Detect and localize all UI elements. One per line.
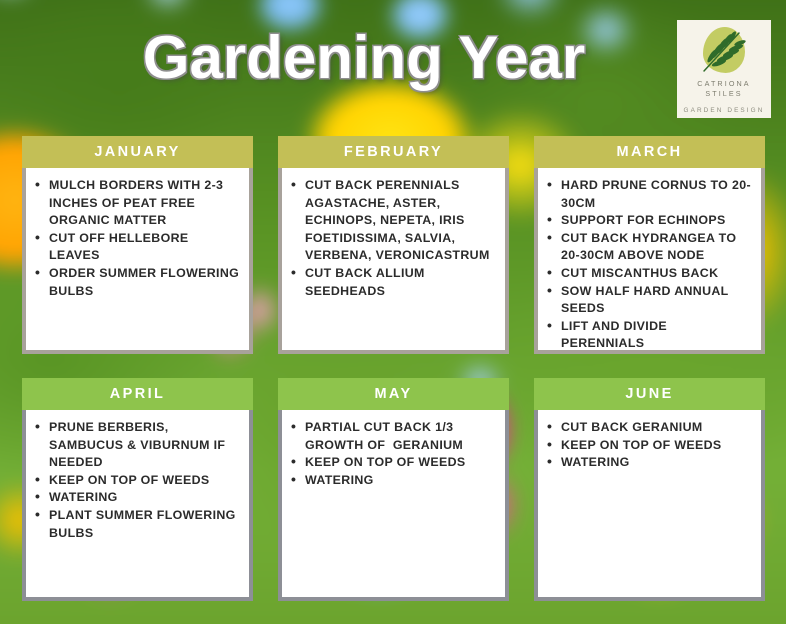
month-card-body: PRUNE BERBERIS, SAMBUCUS & VIBURNUM IF N…: [22, 410, 253, 601]
month-card: JANUARYMULCH BORDERS WITH 2-3 INCHES OF …: [22, 136, 253, 354]
logo-tagline: GARDEN DESIGN: [684, 107, 765, 114]
month-card-title: APRIL: [22, 378, 253, 410]
task-item: CUT BACK GERANIUM: [544, 419, 753, 437]
task-item: SOW HALF HARD ANNUAL SEEDS: [544, 283, 753, 318]
logo-brand-name-line2: STILES: [697, 89, 750, 99]
month-card-body: CUT BACK PERENNIALS AGASTACHE, ASTER, EC…: [278, 168, 509, 354]
month-card-body: PARTIAL CUT BACK 1/3 GROWTH OF GERANIUMK…: [278, 410, 509, 601]
task-item: MULCH BORDERS WITH 2-3 INCHES OF PEAT FR…: [32, 177, 241, 230]
month-card-title: MAY: [278, 378, 509, 410]
task-item: PRUNE BERBERIS, SAMBUCUS & VIBURNUM IF N…: [32, 419, 241, 472]
month-card: FEBRUARYCUT BACK PERENNIALS AGASTACHE, A…: [278, 136, 509, 354]
task-item: SUPPORT FOR ECHINOPS: [544, 212, 753, 230]
month-card-title: MARCH: [534, 136, 765, 168]
month-card-title: JUNE: [534, 378, 765, 410]
page-title: Gardening Year: [0, 23, 786, 92]
task-item: CUT BACK HYDRANGEA TO 20-30CM ABOVE NODE: [544, 230, 753, 265]
task-item: WATERING: [32, 489, 241, 507]
month-card: APRILPRUNE BERBERIS, SAMBUCUS & VIBURNUM…: [22, 378, 253, 601]
logo-brand-name-line1: CATRIONA: [697, 79, 750, 89]
task-item: KEEP ON TOP OF WEEDS: [32, 472, 241, 490]
month-card: MAYPARTIAL CUT BACK 1/3 GROWTH OF GERANI…: [278, 378, 509, 601]
month-card-grid: JANUARYMULCH BORDERS WITH 2-3 INCHES OF …: [22, 136, 764, 601]
task-item: WATERING: [288, 472, 497, 490]
month-card: JUNECUT BACK GERANIUMKEEP ON TOP OF WEED…: [534, 378, 765, 601]
brand-logo: CATRIONA STILES GARDEN DESIGN: [677, 20, 771, 118]
logo-brand-name: CATRIONA STILES: [697, 79, 750, 99]
fern-leaf-icon: [695, 25, 753, 77]
task-item: CUT BACK ALLIUM SEEDHEADS: [288, 265, 497, 300]
task-list: MULCH BORDERS WITH 2-3 INCHES OF PEAT FR…: [32, 177, 241, 300]
gardening-year-poster: Gardening Year: [0, 0, 786, 624]
task-item: LIFT AND DIVIDE PERENNIALS: [544, 318, 753, 353]
task-item: ORDER SUMMER FLOWERING BULBS: [32, 265, 241, 300]
month-card-body: MULCH BORDERS WITH 2-3 INCHES OF PEAT FR…: [22, 168, 253, 354]
month-card: MARCHHARD PRUNE CORNUS TO 20-30CMSUPPORT…: [534, 136, 765, 354]
task-item: WATERING: [544, 454, 753, 472]
task-list: HARD PRUNE CORNUS TO 20-30CMSUPPORT FOR …: [544, 177, 753, 353]
month-card-body: HARD PRUNE CORNUS TO 20-30CMSUPPORT FOR …: [534, 168, 765, 354]
task-item: CUT MISCANTHUS BACK: [544, 265, 753, 283]
month-card-body: CUT BACK GERANIUMKEEP ON TOP OF WEEDSWAT…: [534, 410, 765, 601]
task-item: CUT BACK PERENNIALS AGASTACHE, ASTER, EC…: [288, 177, 497, 265]
task-item: PARTIAL CUT BACK 1/3 GROWTH OF GERANIUM: [288, 419, 497, 454]
task-list: PARTIAL CUT BACK 1/3 GROWTH OF GERANIUMK…: [288, 419, 497, 489]
task-list: CUT BACK PERENNIALS AGASTACHE, ASTER, EC…: [288, 177, 497, 300]
task-item: PLANT SUMMER FLOWERING BULBS: [32, 507, 241, 542]
month-card-title: JANUARY: [22, 136, 253, 168]
task-list: CUT BACK GERANIUMKEEP ON TOP OF WEEDSWAT…: [544, 419, 753, 472]
month-card-title: FEBRUARY: [278, 136, 509, 168]
task-item: CUT OFF HELLEBORE LEAVES: [32, 230, 241, 265]
task-item: KEEP ON TOP OF WEEDS: [544, 437, 753, 455]
task-list: PRUNE BERBERIS, SAMBUCUS & VIBURNUM IF N…: [32, 419, 241, 542]
task-item: HARD PRUNE CORNUS TO 20-30CM: [544, 177, 753, 212]
poster-header: Gardening Year: [0, 0, 786, 130]
task-item: KEEP ON TOP OF WEEDS: [288, 454, 497, 472]
